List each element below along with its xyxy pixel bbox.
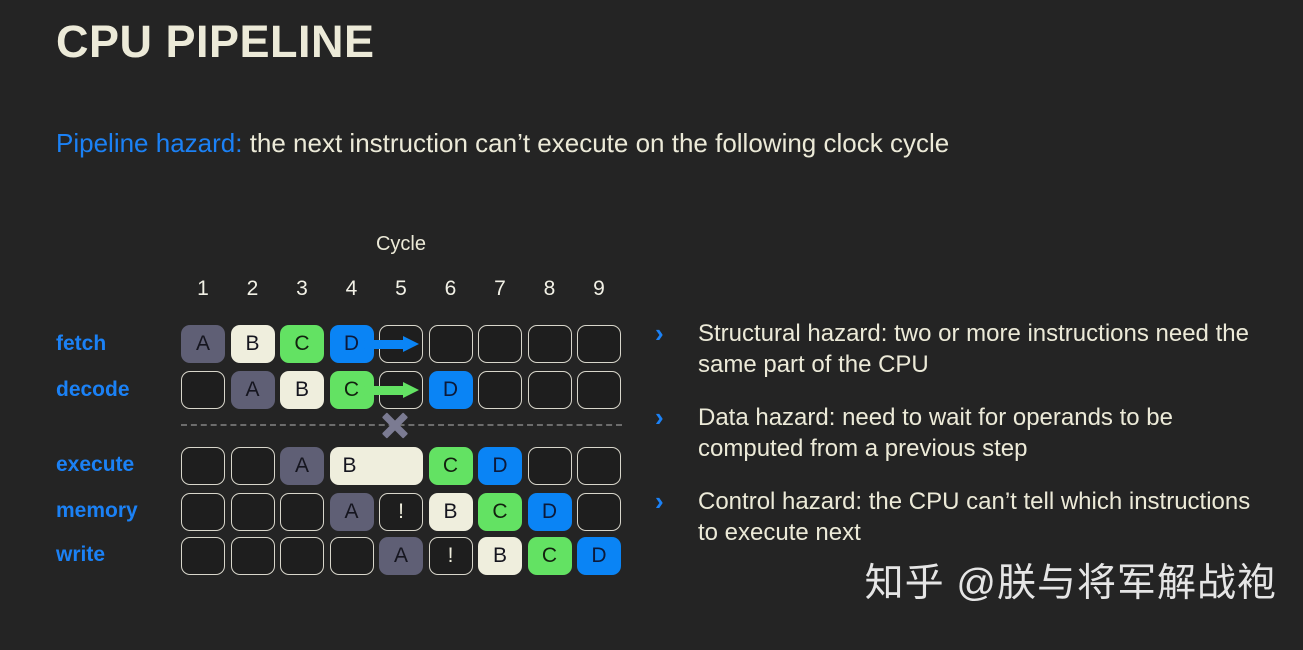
pipeline-cell-write-c1 [181,537,225,575]
pipeline-cell-write-c6: ! [429,537,473,575]
row-label-write: write [56,543,105,567]
cycle-number-row: 123456789 [181,277,621,303]
pipeline-cell-execute-c1 [181,447,225,485]
bullet-item-1: ›Structural hazard: two or more instruct… [650,318,1270,380]
pipeline-cell-execute-c4: B [330,447,424,485]
slide-canvas: CPU PIPELINE Pipeline hazard: the next i… [0,0,1303,650]
pipeline-cell-fetch-c2: B [231,325,275,363]
pipeline-cell-fetch-c1: A [181,325,225,363]
chevron-right-icon: › [655,318,664,349]
pipeline-cell-decode-c7 [478,371,522,409]
pipeline-cell-write-c7: B [478,537,522,575]
cycle-number-5: 5 [379,277,423,301]
pipeline-diagram: Cycle 123456789 fetchABCDdecodeABCDexecu… [0,0,650,650]
cycle-number-1: 1 [181,277,225,301]
pipeline-cell-memory-c3 [280,493,324,531]
pipeline-cell-memory-c6: B [429,493,473,531]
pipeline-cell-memory-c2 [231,493,275,531]
pipeline-cell-execute-c7: D [478,447,522,485]
pipeline-cell-decode-c9 [577,371,621,409]
pipeline-cell-fetch-c8 [528,325,572,363]
pipeline-cell-decode-c3: B [280,371,324,409]
bullet-text: Data hazard: need to wait for operands t… [698,404,1173,462]
pipeline-cell-execute-c6: C [429,447,473,485]
forward-arrow-decode [364,382,420,398]
row-label-memory: memory [56,499,138,523]
pipeline-cell-memory-c8: D [528,493,572,531]
bullet-text: Control hazard: the CPU can’t tell which… [698,488,1250,546]
row-label-fetch: fetch [56,332,106,356]
pipeline-cell-decode-c2: A [231,371,275,409]
pipeline-cell-fetch-c6 [429,325,473,363]
pipeline-cell-write-c5: A [379,537,423,575]
x-mark-icon [378,409,410,441]
pipeline-cell-decode-c8 [528,371,572,409]
row-label-execute: execute [56,453,134,477]
cycle-number-4: 4 [330,277,374,301]
cycle-number-8: 8 [528,277,572,301]
pipeline-cell-execute-c9 [577,447,621,485]
pipeline-cell-execute-c3: A [280,447,324,485]
pipeline-cell-write-c4 [330,537,374,575]
pipeline-cell-fetch-c3: C [280,325,324,363]
pipeline-cell-decode-c6: D [429,371,473,409]
pipeline-cell-write-c3 [280,537,324,575]
pipeline-cell-memory-c9 [577,493,621,531]
chevron-right-icon: › [655,402,664,433]
pipeline-cell-memory-c5: ! [379,493,423,531]
pipeline-cell-execute-c8 [528,447,572,485]
cycle-number-2: 2 [231,277,275,301]
bullet-item-2: ›Data hazard: need to wait for operands … [650,402,1270,464]
pipeline-cell-memory-c4: A [330,493,374,531]
cycle-number-6: 6 [429,277,473,301]
cycle-axis-label: Cycle [181,233,621,256]
pipeline-cell-fetch-c7 [478,325,522,363]
pipeline-cell-memory-c7: C [478,493,522,531]
cycle-number-3: 3 [280,277,324,301]
cycle-number-9: 9 [577,277,621,301]
forward-arrow-fetch [364,336,420,352]
hazard-bullet-list: ›Structural hazard: two or more instruct… [650,318,1270,570]
pipeline-cell-memory-c1 [181,493,225,531]
pipeline-cell-write-c9: D [577,537,621,575]
pipeline-cell-write-c2 [231,537,275,575]
pipeline-cell-execute-c2 [231,447,275,485]
row-label-decode: decode [56,378,130,402]
pipeline-cell-decode-c1 [181,371,225,409]
pipeline-cell-fetch-c9 [577,325,621,363]
watermark: 知乎 @朕与将军解战袍 [865,552,1277,608]
bullet-item-3: ›Control hazard: the CPU can’t tell whic… [650,486,1270,548]
pipeline-cell-write-c8: C [528,537,572,575]
chevron-right-icon: › [655,486,664,517]
bullet-text: Structural hazard: two or more instructi… [698,320,1249,378]
cycle-number-7: 7 [478,277,522,301]
